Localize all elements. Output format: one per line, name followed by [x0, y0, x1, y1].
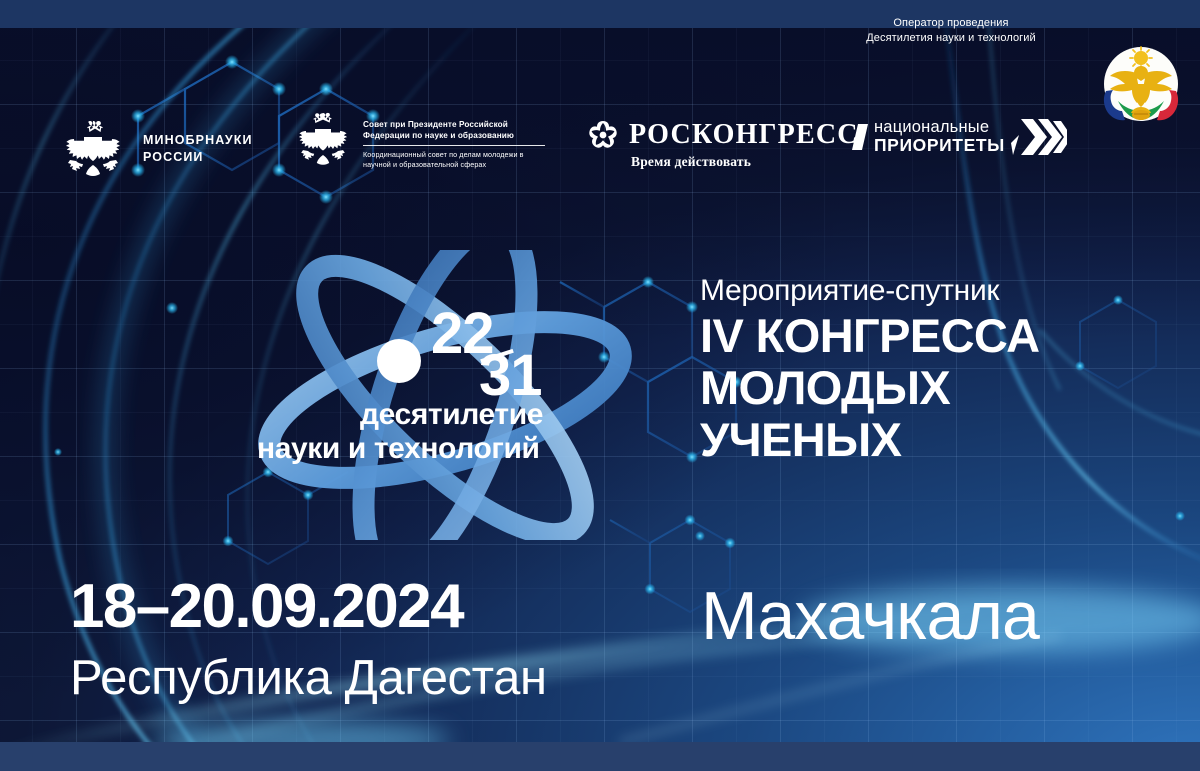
logo-roscongress-slogan: Время действовать — [631, 154, 751, 170]
operator-note: Оператор проведения Десятилетия науки и … — [836, 16, 1066, 46]
logo-presidential-council-text: Совет при Президенте Российской Федераци… — [363, 120, 545, 169]
logo-presidential-council-line1: Совет при Президенте Российской Федераци… — [363, 120, 545, 141]
chevrons-right-icon — [1011, 117, 1067, 157]
event-title-kicker: Мероприятие-спутник — [700, 272, 1170, 310]
decade-of-science-logo: 22 31 десятилетие науки и технологий — [235, 250, 655, 540]
event-city: Махачкала — [701, 578, 1039, 654]
logo-national-priorities: национальные ПРИОРИТЕТЫ — [852, 117, 1067, 157]
event-title-line3: УЧЕНЫХ — [700, 414, 1170, 466]
logo-minobrnauki-line2: РОССИИ — [143, 149, 253, 166]
operator-note-line2: Десятилетия науки и технологий — [836, 31, 1066, 46]
logo-national-priorities-word1: национальные — [874, 119, 1005, 136]
logo-divider — [363, 145, 545, 146]
atom-orbit-icon — [235, 250, 655, 540]
logo-national-priorities-word2: ПРИОРИТЕТЫ — [874, 136, 1005, 155]
decade-year-end: 31 — [479, 350, 542, 402]
dagestan-coat-of-arms-icon — [1098, 43, 1184, 129]
partner-logos-row: МИНОБРНАУКИ РОССИИ Совет при Прези — [0, 60, 1200, 180]
bottom-band — [0, 742, 1200, 771]
event-region: Республика Дагестан — [70, 650, 547, 706]
logo-minobrnauki-line1: МИНОБРНАУКИ — [143, 132, 253, 149]
roscongress-pinwheel-icon — [586, 118, 620, 152]
russian-coat-of-arms-icon — [56, 117, 130, 181]
decade-logo-line1: десятилетие — [360, 398, 543, 432]
decade-logo-line2: науки и технологий — [257, 432, 540, 466]
event-title-line2: МОЛОДЫХ — [700, 362, 1170, 414]
logo-roscongress-name: РОСКОНГРЕСС — [629, 121, 859, 149]
slash-mark-icon — [852, 124, 868, 150]
logo-presidential-council-line2: Координационный совет по делам молодежи … — [363, 150, 545, 169]
russian-coat-of-arms-icon — [292, 110, 354, 180]
logo-minobrnauki-text: МИНОБРНАУКИ РОССИИ — [143, 132, 253, 166]
logo-presidential-council: Совет при Президенте Российской Федераци… — [292, 110, 545, 180]
congress-banner: МИНОБРНАУКИ РОССИИ Совет при Прези — [0, 0, 1200, 771]
logo-national-priorities-text: национальные ПРИОРИТЕТЫ — [874, 119, 1005, 155]
event-title-block: Мероприятие-спутник IV КОНГРЕССА МОЛОДЫХ… — [700, 272, 1170, 466]
event-date: 18–20.09.2024 — [70, 576, 463, 638]
logo-minobrnauki: МИНОБРНАУКИ РОССИИ — [56, 117, 253, 181]
logo-roscongress: РОСКОНГРЕСС Время действовать — [586, 118, 859, 170]
event-title-line1: IV КОНГРЕССА — [700, 310, 1170, 362]
operator-note-line1: Оператор проведения — [836, 16, 1066, 31]
